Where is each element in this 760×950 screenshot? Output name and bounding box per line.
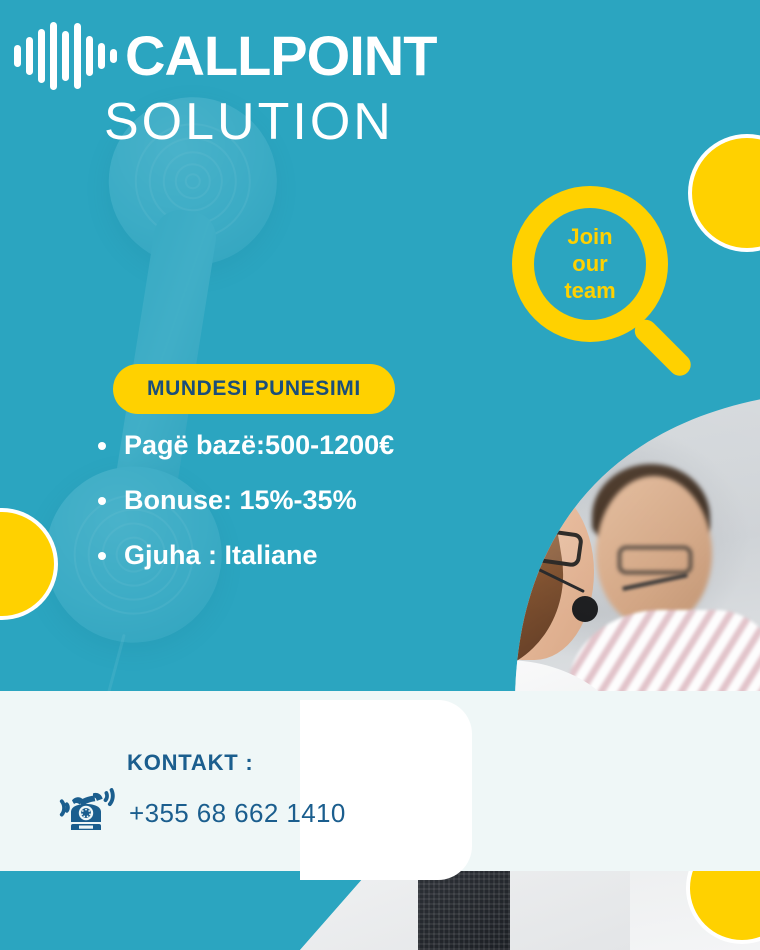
brand-logo: CALLPOINT bbox=[14, 24, 436, 88]
sound-wave-icon bbox=[14, 24, 117, 88]
decorative-circle-top-right bbox=[692, 138, 760, 248]
recruitment-poster: CE bbox=[0, 0, 760, 950]
magnifier-handle-icon bbox=[630, 315, 695, 380]
list-item: Bonuse: 15%-35% bbox=[96, 487, 394, 514]
join-label-line2: our bbox=[572, 251, 607, 277]
decorative-circle-left bbox=[0, 512, 54, 616]
offer-list: Pagë bazë:500-1200€ Bonuse: 15%-35% Gjuh… bbox=[96, 432, 394, 597]
rotary-telephone-icon bbox=[55, 788, 117, 839]
contact-phone-number[interactable]: +355 68 662 1410 bbox=[129, 798, 346, 829]
list-item: Pagë bazë:500-1200€ bbox=[96, 432, 394, 459]
list-item: Gjuha : Italiane bbox=[96, 542, 394, 569]
join-label-line1: Join bbox=[567, 224, 612, 250]
join-our-team-badge[interactable]: Join our team bbox=[512, 186, 694, 368]
join-label-line3: team bbox=[564, 278, 615, 304]
job-opportunity-badge: MUNDESI PUNESIMI bbox=[113, 364, 395, 414]
contact-info: KONTAKT : bbox=[55, 750, 385, 839]
brand-name: CALLPOINT bbox=[125, 28, 436, 84]
brand-subtitle: SOLUTION bbox=[104, 96, 394, 148]
contact-label: KONTAKT : bbox=[127, 750, 385, 776]
